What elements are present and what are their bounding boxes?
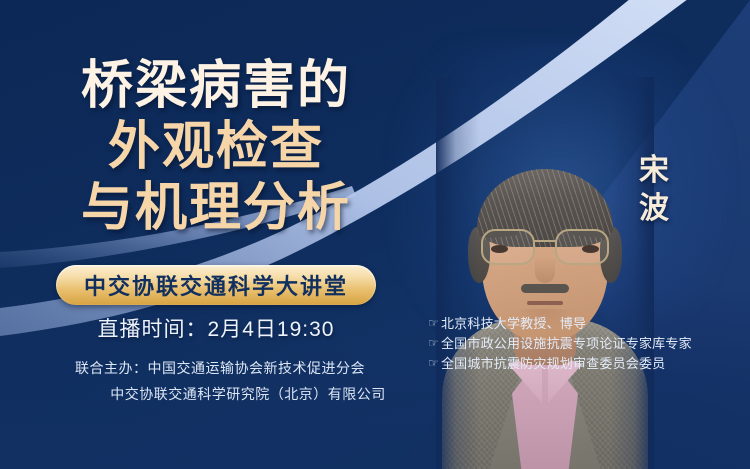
organizer-line-1: 联合主办：中国交通运输协会新技术促进分会: [0, 356, 440, 382]
title-line-2: 外观检查: [0, 121, 432, 173]
webinar-poster: 桥梁病害的 外观检查 与机理分析 中交协联交通科学大讲堂 直播时间：2月4日19…: [0, 0, 750, 469]
organizers-block: 联合主办：中国交通运输协会新技术促进分会 中交协联交通科学研究院（北京）有限公司: [0, 356, 440, 408]
credential-text: 北京科技大学教授、博导: [441, 314, 586, 334]
series-banner-label: 中交协联交通科学大讲堂: [84, 269, 348, 301]
pointing-hand-icon: ☞: [428, 334, 439, 353]
title-line-1: 桥梁病害的: [0, 60, 432, 112]
series-banner: 中交协联交通科学大讲堂: [56, 265, 376, 305]
speaker-credentials: ☞ 北京科技大学教授、博导 ☞ 全国市政公用设施抗震专项论证专家库专家 ☞ 全国…: [428, 314, 746, 374]
speaker-portrait: [436, 77, 654, 469]
pointing-hand-icon: ☞: [428, 314, 439, 333]
credential-row: ☞ 北京科技大学教授、博导: [428, 314, 746, 334]
title-line-3: 与机理分析: [0, 182, 432, 234]
live-time-text: 直播时间：2月4日19:30: [0, 313, 432, 343]
page-title: 桥梁病害的 外观检查 与机理分析: [0, 60, 432, 234]
credential-text: 全国市政公用设施抗震专项论证专家库专家: [441, 334, 692, 354]
credential-row: ☞ 全国市政公用设施抗震专项论证专家库专家: [428, 334, 746, 354]
pointing-hand-icon: ☞: [428, 354, 439, 373]
portrait-edge-fade: [436, 77, 654, 469]
speaker-name: 宋波: [632, 152, 678, 229]
credential-text: 全国城市抗震防灾规划审查委员会委员: [441, 354, 665, 374]
credential-row: ☞ 全国城市抗震防灾规划审查委员会委员: [428, 354, 746, 374]
organizer-line-2: 中交协联交通科学研究院（北京）有限公司: [0, 382, 440, 408]
